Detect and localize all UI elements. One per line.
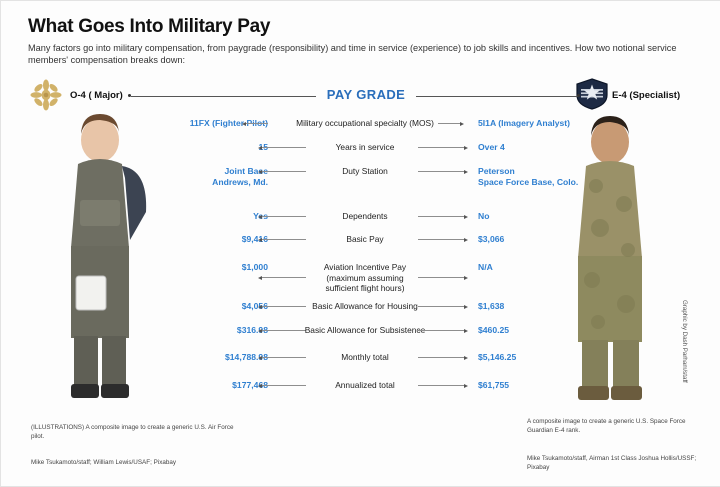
right-connector-line [418, 357, 464, 358]
right-arrow-icon [460, 122, 464, 126]
paygrade-connector-line-left [131, 96, 316, 97]
right-value: N/A [478, 262, 658, 273]
space-force-guardian-illustration [540, 108, 690, 408]
right-connector-line [438, 123, 460, 124]
right-arrow-icon [464, 356, 468, 360]
right-connector-line [418, 330, 464, 331]
paygrade-title: PAY GRADE [320, 87, 412, 102]
right-connector-line [418, 277, 464, 278]
right-value: PetersonSpace Force Base, Colo. [478, 166, 658, 188]
right-value: Over 4 [478, 142, 658, 153]
right-arrow-icon [464, 276, 468, 280]
right-value: $5,146.25 [478, 352, 658, 363]
right-value: $3,066 [478, 234, 658, 245]
right-arrow-icon [464, 305, 468, 309]
left-value: $9,416 [88, 234, 268, 245]
right-arrow-icon [464, 329, 468, 333]
right-connector-line [418, 147, 464, 148]
left-value: 15 [88, 142, 268, 153]
rank-label-right: E-4 (Specialist) [612, 90, 680, 101]
right-illustration-sources: Mike Tsukamoto/staff, Airman 1st Class J… [527, 455, 707, 472]
left-value: 11FX (Fighter Pilot) [88, 118, 268, 129]
left-value: $316.98 [88, 325, 268, 336]
infographic-canvas: What Goes Into Military Pay Many factors… [0, 0, 720, 486]
page-deck: Many factors go into military compensati… [28, 42, 688, 66]
right-arrow-icon [464, 170, 468, 174]
left-value: $1,000 [88, 262, 268, 273]
left-value: $14,788.98 [88, 352, 268, 363]
left-value: $4,056 [88, 301, 268, 312]
page-title: What Goes Into Military Pay [28, 16, 270, 38]
right-connector-line [418, 171, 464, 172]
right-value: $460.25 [478, 325, 658, 336]
paygrade-connector-dot-right [577, 94, 580, 97]
left-value: Joint BaseAndrews, Md. [88, 166, 268, 188]
left-illustration-sources: Mike Tsukamoto/staff; William Lewis/USAF… [31, 459, 271, 468]
right-arrow-icon [464, 384, 468, 388]
left-value: $177,468 [88, 380, 268, 391]
graphic-credit: Graphic by Dash Parham/staff [681, 300, 688, 383]
right-value: $61,755 [478, 380, 658, 391]
air-force-pilot-illustration [30, 108, 180, 408]
right-arrow-icon [464, 146, 468, 150]
paygrade-connector-line-right [416, 96, 579, 97]
paygrade-header-row: O-4 ( Major) PAY GRADE E-4 (Specialist) [0, 84, 720, 110]
right-value: $1,638 [478, 301, 658, 312]
right-illustration-caption: A composite image to create a generic U.… [527, 418, 702, 435]
right-connector-line [418, 216, 464, 217]
right-connector-line [418, 239, 464, 240]
rank-label-left: O-4 ( Major) [70, 90, 123, 101]
right-arrow-icon [464, 215, 468, 219]
left-illustration-caption: (ILLUSTRATIONS) A composite image to cre… [31, 424, 246, 441]
right-value: No [478, 211, 658, 222]
left-value: Yes [88, 211, 268, 222]
right-connector-line [418, 385, 464, 386]
right-value: 5I1A (Imagery Analyst) [478, 118, 658, 129]
right-connector-line [418, 306, 464, 307]
right-arrow-icon [464, 238, 468, 242]
